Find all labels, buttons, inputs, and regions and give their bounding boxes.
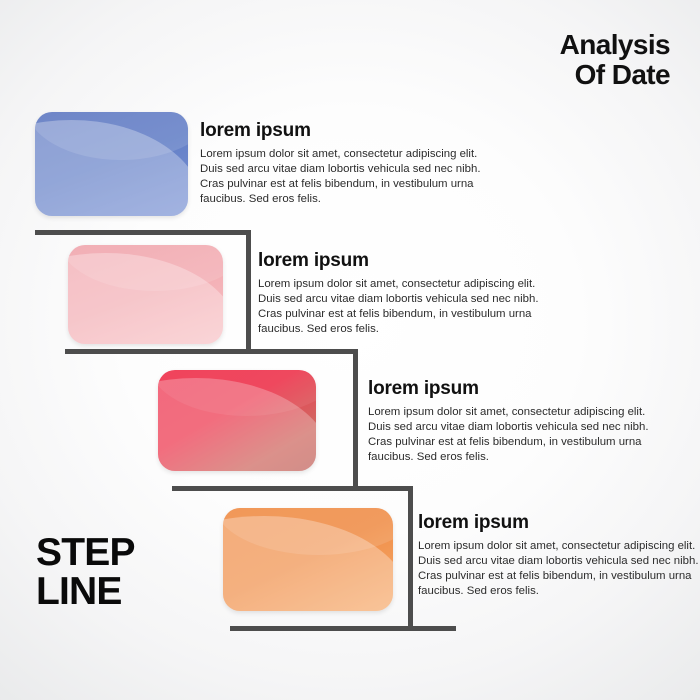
connector-h-2 xyxy=(65,349,358,354)
connector-h-1 xyxy=(35,230,251,235)
step-card-red[interactable] xyxy=(158,370,316,471)
step-body-1: Lorem ipsum dolor sit amet, consectetur … xyxy=(200,147,500,208)
step-text-3: lorem ipsum Lorem ipsum dolor sit amet, … xyxy=(368,378,668,466)
step-heading-2: lorem ipsum xyxy=(258,250,558,272)
step-heading-4: lorem ipsum xyxy=(418,512,700,534)
step-line-label: STEP LINE xyxy=(36,534,135,611)
step-body-4: Lorem ipsum dolor sit amet, consectetur … xyxy=(418,539,700,600)
infographic-canvas: Analysis Of Date lorem ipsum Lorem ipsum… xyxy=(0,0,700,700)
step-text-1: lorem ipsum Lorem ipsum dolor sit amet, … xyxy=(200,120,500,208)
connector-v-3 xyxy=(408,486,413,630)
step-heading-3: lorem ipsum xyxy=(368,378,668,400)
step-text-2: lorem ipsum Lorem ipsum dolor sit amet, … xyxy=(258,250,558,338)
step-heading-1: lorem ipsum xyxy=(200,120,500,142)
step-card-blue[interactable] xyxy=(35,112,188,216)
step-card-orange[interactable] xyxy=(223,508,393,611)
step-card-pink[interactable] xyxy=(68,245,223,344)
step-body-3: Lorem ipsum dolor sit amet, consectetur … xyxy=(368,405,668,466)
connector-v-1 xyxy=(246,230,251,354)
page-title: Analysis Of Date xyxy=(560,30,670,90)
step-body-2: Lorem ipsum dolor sit amet, consectetur … xyxy=(258,277,558,338)
step-text-4: lorem ipsum Lorem ipsum dolor sit amet, … xyxy=(418,512,700,600)
connector-h-4 xyxy=(230,626,456,631)
connector-h-3 xyxy=(172,486,413,491)
connector-v-2 xyxy=(353,349,358,491)
